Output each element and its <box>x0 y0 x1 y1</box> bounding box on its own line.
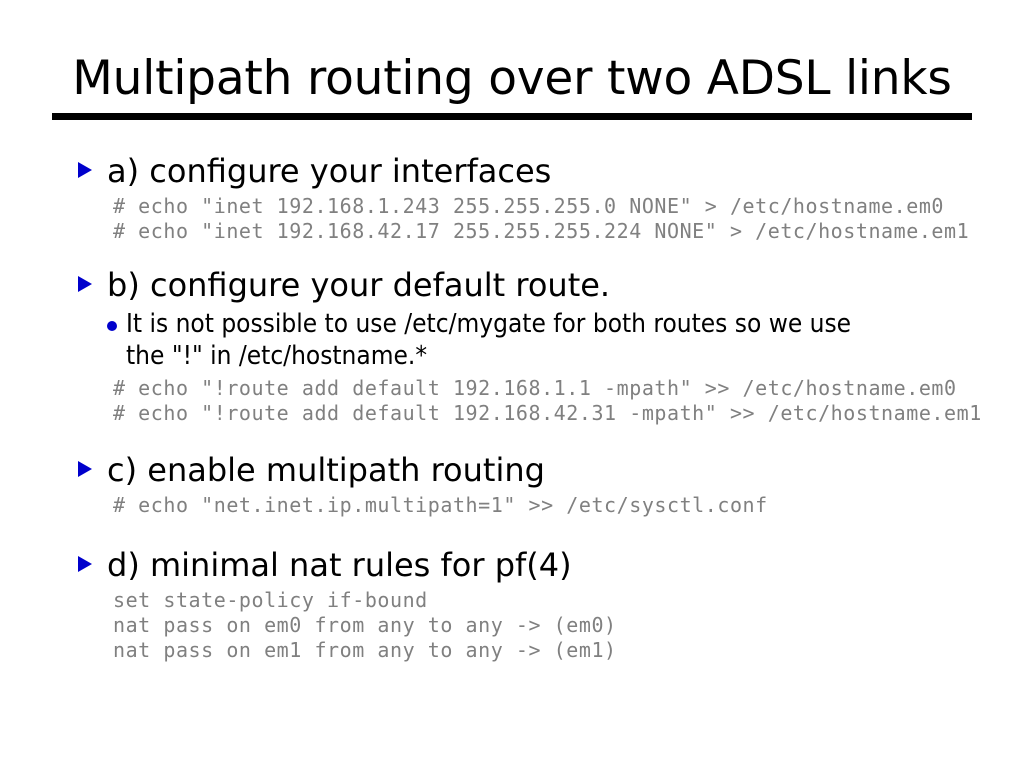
section-a: a) configure your interfaces # echo "ine… <box>0 152 1024 244</box>
bullet-label-b: b) configure your default route. <box>107 266 1024 304</box>
bullet-item-d: d) minimal nat rules for pf(4) <box>0 546 1024 584</box>
slide-title-block: Multipath routing over two ADSL links <box>52 52 972 120</box>
triangle-bullet-icon <box>78 276 92 292</box>
subbullet-item-b1: It is not possible to use /etc/mygate fo… <box>0 308 1024 372</box>
bullet-item-a: a) configure your interfaces <box>0 152 1024 190</box>
presentation-slide: Multipath routing over two ADSL links a)… <box>0 0 1024 768</box>
slide-content: a) configure your interfaces # echo "ine… <box>0 152 1024 663</box>
section-spacer <box>0 244 1024 266</box>
page-title: Multipath routing over two ADSL links <box>52 52 972 106</box>
triangle-bullet-icon <box>78 162 92 178</box>
code-line: # echo "inet 192.168.42.17 255.255.255.2… <box>113 219 1024 244</box>
code-block-c: # echo "net.inet.ip.multipath=1" >> /etc… <box>0 493 1024 518</box>
dot-bullet-icon <box>107 321 117 331</box>
code-block-a: # echo "inet 192.168.1.243 255.255.255.0… <box>0 194 1024 244</box>
code-line: # echo "!route add default 192.168.1.1 -… <box>113 376 1024 401</box>
title-underline-rule <box>52 113 972 120</box>
code-block-b: # echo "!route add default 192.168.1.1 -… <box>0 376 1024 426</box>
section-spacer <box>0 426 1024 451</box>
code-line: # echo "inet 192.168.1.243 255.255.255.0… <box>113 194 1024 219</box>
code-line: nat pass on em1 from any to any -> (em1) <box>113 638 1024 663</box>
section-d: d) minimal nat rules for pf(4) set state… <box>0 546 1024 663</box>
bullet-label-c: c) enable multipath routing <box>107 451 1024 489</box>
code-line: # echo "!route add default 192.168.42.31… <box>113 401 1024 426</box>
subbullet-label-b1: It is not possible to use /etc/mygate fo… <box>126 308 896 372</box>
code-block-d: set state-policy if-bound nat pass on em… <box>0 588 1024 663</box>
triangle-bullet-icon <box>78 556 92 572</box>
section-b: b) configure your default route. It is n… <box>0 266 1024 426</box>
triangle-bullet-icon <box>78 461 92 477</box>
bullet-item-b: b) configure your default route. <box>0 266 1024 304</box>
bullet-item-c: c) enable multipath routing <box>0 451 1024 489</box>
section-spacer <box>0 518 1024 546</box>
code-line: nat pass on em0 from any to any -> (em0) <box>113 613 1024 638</box>
bullet-label-d: d) minimal nat rules for pf(4) <box>107 546 1024 584</box>
code-line: # echo "net.inet.ip.multipath=1" >> /etc… <box>113 493 1024 518</box>
code-line: set state-policy if-bound <box>113 588 1024 613</box>
bullet-label-a: a) configure your interfaces <box>107 152 1024 190</box>
section-c: c) enable multipath routing # echo "net.… <box>0 451 1024 518</box>
